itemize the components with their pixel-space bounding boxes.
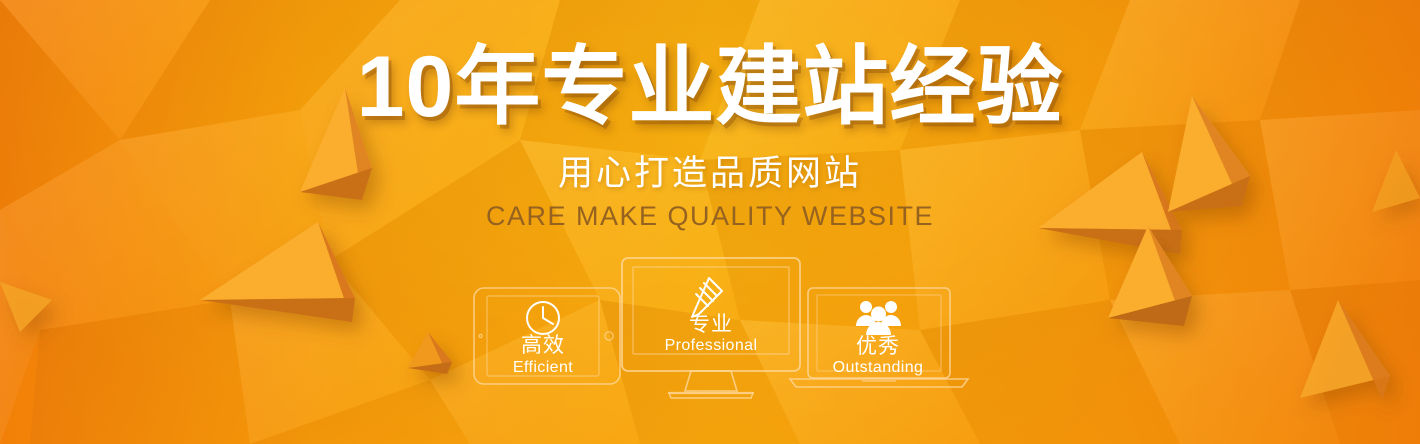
clock-icon bbox=[527, 302, 559, 334]
device-label-en-laptop: Outstanding bbox=[833, 359, 924, 376]
device-label-en-monitor: Professional bbox=[665, 337, 758, 354]
device-label-en-tablet: Efficient bbox=[513, 359, 573, 376]
device-illustration-group: 高效 Efficient 专业 Profes bbox=[0, 248, 1420, 408]
people-group-icon bbox=[856, 301, 901, 335]
promo-banner: 10年专业建站经验 用心打造品质网站 CARE MAKE QUALITY WEB… bbox=[0, 0, 1420, 444]
page-title: 10年专业建站经验 bbox=[0, 44, 1420, 130]
pencil-icon bbox=[692, 278, 722, 317]
device-label-cn-tablet: 高效 bbox=[521, 334, 565, 357]
device-label-cn-monitor: 专业 bbox=[689, 313, 733, 336]
subtitle-english: CARE MAKE QUALITY WEBSITE bbox=[0, 203, 1420, 230]
subtitle-chinese: 用心打造品质网站 bbox=[0, 156, 1420, 191]
device-label-cn-laptop: 优秀 bbox=[856, 335, 900, 358]
